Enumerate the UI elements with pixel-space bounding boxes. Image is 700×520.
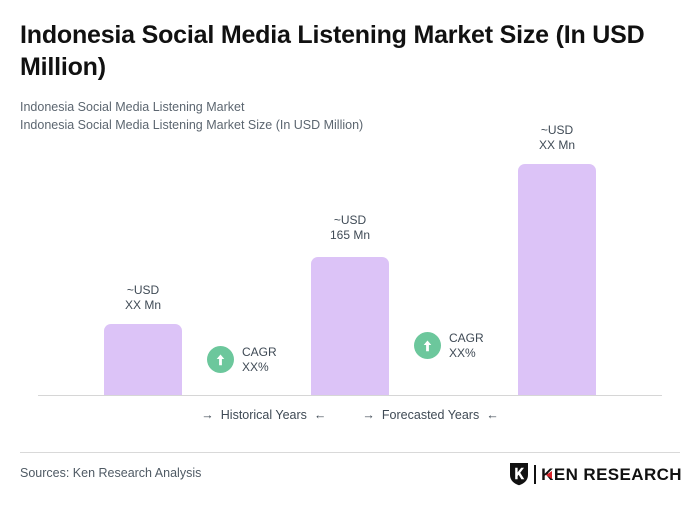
cagr-value-2: XX% xyxy=(449,346,484,361)
axis-baseline xyxy=(38,395,662,396)
cagr-value-1: XX% xyxy=(242,360,277,375)
up-arrow-icon xyxy=(414,332,441,359)
up-arrow-icon xyxy=(207,346,234,373)
chart-page: Indonesia Social Media Listening Market … xyxy=(0,0,700,520)
arrow-left-icon: ← xyxy=(314,409,327,422)
footer-divider xyxy=(20,452,680,453)
bar-1[interactable] xyxy=(104,324,182,395)
bar-label-2-value: 165 Mn xyxy=(311,228,389,243)
legend-item-historical: → Historical Years ← xyxy=(201,408,326,422)
bar-label-1-value: XX Mn xyxy=(104,298,182,313)
brand-wordmark-text: KEN RESEARCH xyxy=(541,465,682,484)
cagr-label-1: CAGR xyxy=(242,345,277,360)
cagr-text-1: CAGR XX% xyxy=(242,345,277,374)
bar-2[interactable] xyxy=(311,257,389,395)
bar-label-2-prefix: ~USD xyxy=(311,213,389,228)
cagr-label-2: CAGR xyxy=(449,331,484,346)
legend-item-forecasted: → Forecasted Years ← xyxy=(362,408,498,422)
bar-label-3: ~USD XX Mn xyxy=(518,123,596,152)
legend-label-forecasted: Forecasted Years xyxy=(382,408,479,422)
bar-label-1-prefix: ~USD xyxy=(104,283,182,298)
legend-label-historical: Historical Years xyxy=(221,408,307,422)
bar-label-1: ~USD XX Mn xyxy=(104,283,182,312)
year-legend: → Historical Years ← → Forecasted Years … xyxy=(0,408,700,422)
cagr-group-2: CAGR XX% xyxy=(414,331,484,360)
arrow-right-icon: → xyxy=(201,409,214,422)
brand-logo: KEN RESEARCH xyxy=(509,462,682,486)
cagr-text-2: CAGR XX% xyxy=(449,331,484,360)
arrow-left-icon: ← xyxy=(486,409,499,422)
chart-plot-area: ~USD XX Mn CAGR XX% ~USD 165 Mn xyxy=(0,0,700,400)
ken-research-shield-icon xyxy=(509,462,529,486)
sources-text: Sources: Ken Research Analysis xyxy=(20,466,201,480)
bar-3[interactable] xyxy=(518,164,596,395)
brand-accent-triangle-icon xyxy=(546,471,552,479)
cagr-group-1: CAGR XX% xyxy=(207,345,277,374)
brand-wordmark: KEN RESEARCH xyxy=(541,466,682,483)
bar-label-3-prefix: ~USD xyxy=(518,123,596,138)
arrow-right-icon: → xyxy=(362,409,375,422)
brand-divider xyxy=(534,465,536,484)
bar-label-2: ~USD 165 Mn xyxy=(311,213,389,242)
bar-label-3-value: XX Mn xyxy=(518,138,596,153)
